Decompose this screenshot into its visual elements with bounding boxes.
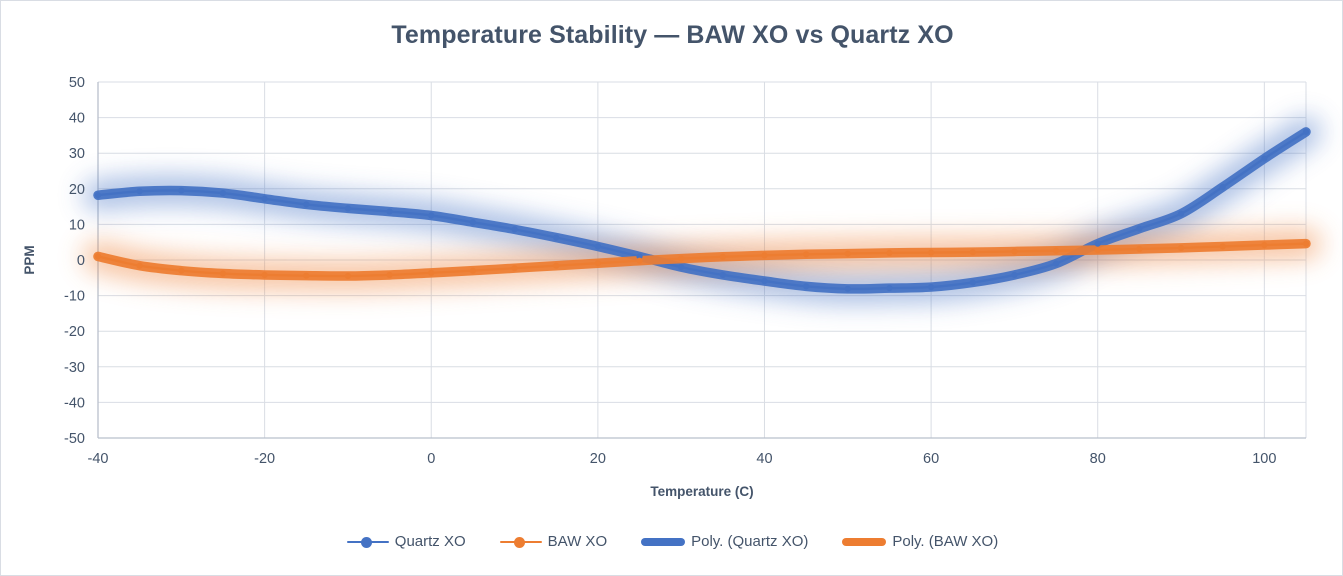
data-point-marker	[1136, 226, 1142, 232]
legend-label: BAW XO	[548, 533, 607, 550]
x-tick-label: 20	[590, 451, 606, 467]
data-point-marker	[970, 249, 976, 255]
data-point-marker	[720, 254, 726, 260]
data-point-marker	[470, 268, 476, 274]
x-tick-label: -20	[254, 451, 275, 467]
data-point-marker	[137, 263, 143, 269]
data-point-marker	[220, 270, 226, 276]
x-tick-label: 100	[1252, 451, 1276, 467]
legend-label: Quartz XO	[395, 533, 466, 550]
data-point-marker	[970, 279, 976, 285]
data-point-marker	[1095, 247, 1101, 253]
data-point-marker	[1261, 242, 1267, 248]
y-axis-title: PPM	[22, 245, 37, 274]
x-tick-label: 60	[923, 451, 939, 467]
legend-marker-icon	[500, 535, 542, 549]
legend-marker-icon	[347, 535, 389, 549]
data-point-marker	[553, 234, 559, 240]
data-point-marker	[595, 260, 601, 266]
x-tick-label: 80	[1090, 451, 1106, 467]
y-tick-label: 50	[69, 75, 85, 91]
legend-trendline-swatch	[842, 538, 886, 546]
y-axis-tick-labels: 50403020100-10-20-30-40-50	[64, 75, 85, 447]
data-point-marker	[428, 212, 434, 218]
data-point-marker	[1053, 248, 1059, 254]
x-axis-title: Temperature (C)	[650, 484, 753, 499]
data-point-marker	[636, 258, 642, 264]
data-point-marker	[178, 187, 184, 193]
data-point-marker	[1303, 129, 1309, 135]
y-tick-label: 10	[69, 217, 85, 233]
y-tick-label: 0	[77, 253, 85, 269]
data-point-marker	[845, 286, 851, 292]
data-point-marker	[678, 264, 684, 270]
data-point-marker	[595, 243, 601, 249]
data-point-marker	[720, 272, 726, 278]
data-point-marker	[262, 272, 268, 278]
legend-label: Poly. (BAW XO)	[892, 533, 998, 550]
data-point-marker	[1220, 184, 1226, 190]
data-point-marker	[303, 201, 309, 207]
data-point-marker	[386, 208, 392, 214]
x-tick-label: -40	[88, 451, 109, 467]
data-point-marker	[178, 268, 184, 274]
data-point-marker	[95, 192, 101, 198]
data-point-marker	[1261, 155, 1267, 161]
x-tick-label: 0	[427, 451, 435, 467]
data-point-marker	[1053, 260, 1059, 266]
data-point-marker	[886, 250, 892, 256]
data-point-marker	[1011, 248, 1017, 254]
data-point-marker	[1303, 241, 1309, 247]
data-point-marker	[928, 284, 934, 290]
data-point-marker	[761, 252, 767, 258]
y-tick-label: 20	[69, 182, 85, 198]
data-point-marker	[1095, 241, 1101, 247]
data-point-marker	[428, 270, 434, 276]
data-point-marker	[137, 188, 143, 194]
data-point-marker	[1011, 272, 1017, 278]
legend-entry[interactable]: Quartz XO	[347, 533, 466, 550]
data-point-marker	[95, 253, 101, 259]
data-point-marker	[1220, 243, 1226, 249]
y-tick-label: -10	[64, 289, 85, 305]
data-point-marker	[886, 285, 892, 291]
y-tick-label: -40	[64, 395, 85, 411]
data-point-marker	[345, 205, 351, 211]
data-point-marker	[761, 278, 767, 284]
data-point-marker	[220, 190, 226, 196]
chart-container: Temperature Stability — BAW XO vs Quartz…	[0, 0, 1343, 576]
legend-dot	[361, 537, 372, 548]
data-point-marker	[1178, 245, 1184, 251]
y-tick-label: 30	[69, 146, 85, 162]
x-axis-tick-labels: -40-20020406080100	[88, 451, 1277, 467]
data-point-marker	[1136, 246, 1142, 252]
chart-legend: Quartz XOBAW XOPoly. (Quartz XO)Poly. (B…	[1, 533, 1343, 550]
x-tick-label: 40	[756, 451, 772, 467]
data-point-marker	[1178, 211, 1184, 217]
data-point-marker	[678, 255, 684, 261]
trendline-glow	[98, 132, 1306, 289]
data-point-marker	[845, 250, 851, 256]
legend-trendline-swatch	[641, 538, 685, 546]
data-point-marker	[803, 251, 809, 257]
legend-entry[interactable]: BAW XO	[500, 533, 607, 550]
chart-plot-area: 50403020100-10-20-30-40-50 -40-200204060…	[1, 1, 1343, 576]
data-point-marker	[511, 226, 517, 232]
legend-dot	[514, 537, 525, 548]
y-tick-label: 40	[69, 111, 85, 127]
data-point-marker	[386, 272, 392, 278]
legend-label: Poly. (Quartz XO)	[691, 533, 808, 550]
y-tick-label: -50	[64, 431, 85, 447]
data-point-marker	[345, 273, 351, 279]
data-point-marker	[303, 273, 309, 279]
data-point-marker	[470, 219, 476, 225]
data-point-marker	[511, 265, 517, 271]
legend-entry[interactable]: Poly. (Quartz XO)	[641, 533, 808, 550]
y-tick-label: -30	[64, 360, 85, 376]
y-tick-label: -20	[64, 324, 85, 340]
data-point-marker	[803, 283, 809, 289]
legend-entry[interactable]: Poly. (BAW XO)	[842, 533, 998, 550]
data-point-marker	[553, 263, 559, 269]
data-point-marker	[262, 196, 268, 202]
data-point-marker	[928, 249, 934, 255]
